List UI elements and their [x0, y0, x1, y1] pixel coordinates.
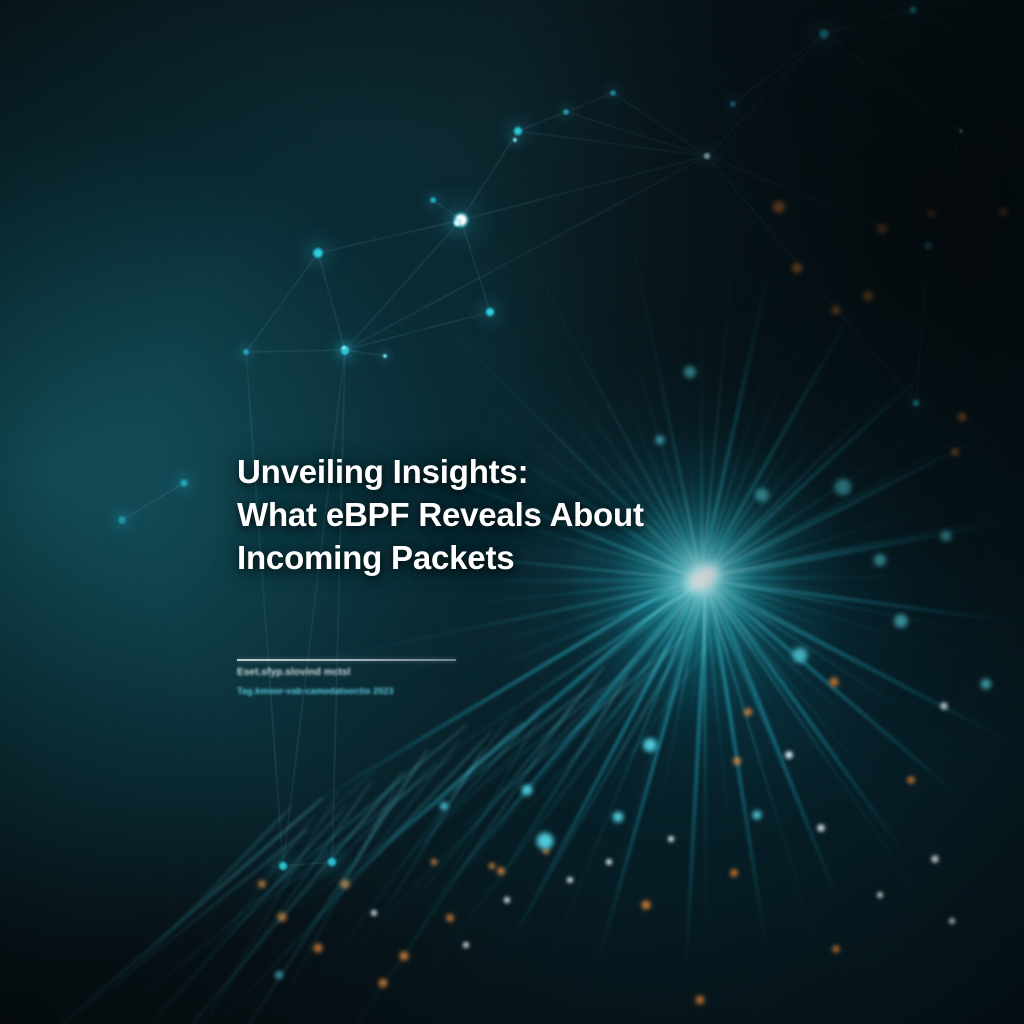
hero-banner: Unveiling Insights: What eBPF Reveals Ab… — [0, 0, 1024, 1024]
film-grain-overlay — [0, 0, 1024, 1024]
